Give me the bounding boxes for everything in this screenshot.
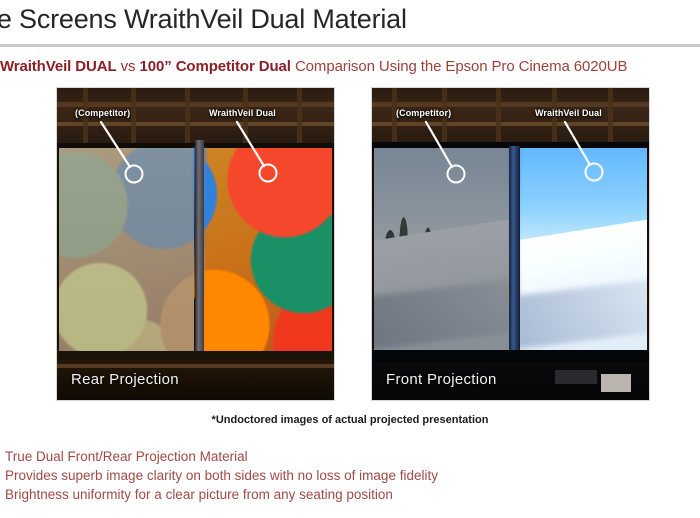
page-title: lite Screens WraithVeil Dual Material [0, 4, 700, 35]
screen-panel-competitor [59, 148, 194, 353]
footnote: *Undoctored images of actual projected p… [0, 414, 700, 426]
photo-front-projection: (Competitor) WraithVeil Dual Front Proje… [372, 88, 649, 400]
callout-label-wraithveil: WraithVeil Dual [209, 108, 276, 118]
equipment-box [555, 370, 597, 384]
caption-rear-projection: Rear Projection [71, 371, 179, 388]
bullet-item: Brightness uniformity for a clear pictur… [5, 485, 438, 504]
subtitle-product: 00” WraithVeil DUAL [0, 58, 117, 75]
bullet-item: True Dual Front/Rear Projection Material [5, 447, 438, 466]
title-divider [0, 44, 700, 47]
photo-rear-projection: (Competitor) WraithVeil Dual Rear Projec… [57, 88, 334, 400]
screen-center-post [509, 146, 520, 358]
page-subtitle: 00” WraithVeil DUAL vs 100” Competitor D… [0, 58, 700, 75]
screen-center-post [195, 140, 204, 365]
callout-label-wraithveil: WraithVeil Dual [535, 108, 602, 118]
subtitle-projector: Comparison Using the Epson Pro Cinema 60… [295, 58, 627, 75]
callout-label-competitor: (Competitor) [75, 108, 130, 118]
equipment-paper [601, 374, 631, 392]
caption-front-projection: Front Projection [386, 371, 497, 388]
bullet-item: Provides superb image clarity on both si… [5, 466, 438, 485]
screen-panel-wraithveil [518, 148, 647, 353]
screen-panel-competitor [374, 148, 509, 353]
subtitle-competitor: 100” Competitor Dual [140, 58, 291, 75]
floor-rail [57, 364, 334, 368]
callout-label-competitor: (Competitor) [396, 108, 451, 118]
subtitle-vs: vs [121, 58, 136, 75]
bullet-list: True Dual Front/Rear Projection Material… [5, 447, 438, 504]
screen-panel-wraithveil [203, 148, 332, 353]
